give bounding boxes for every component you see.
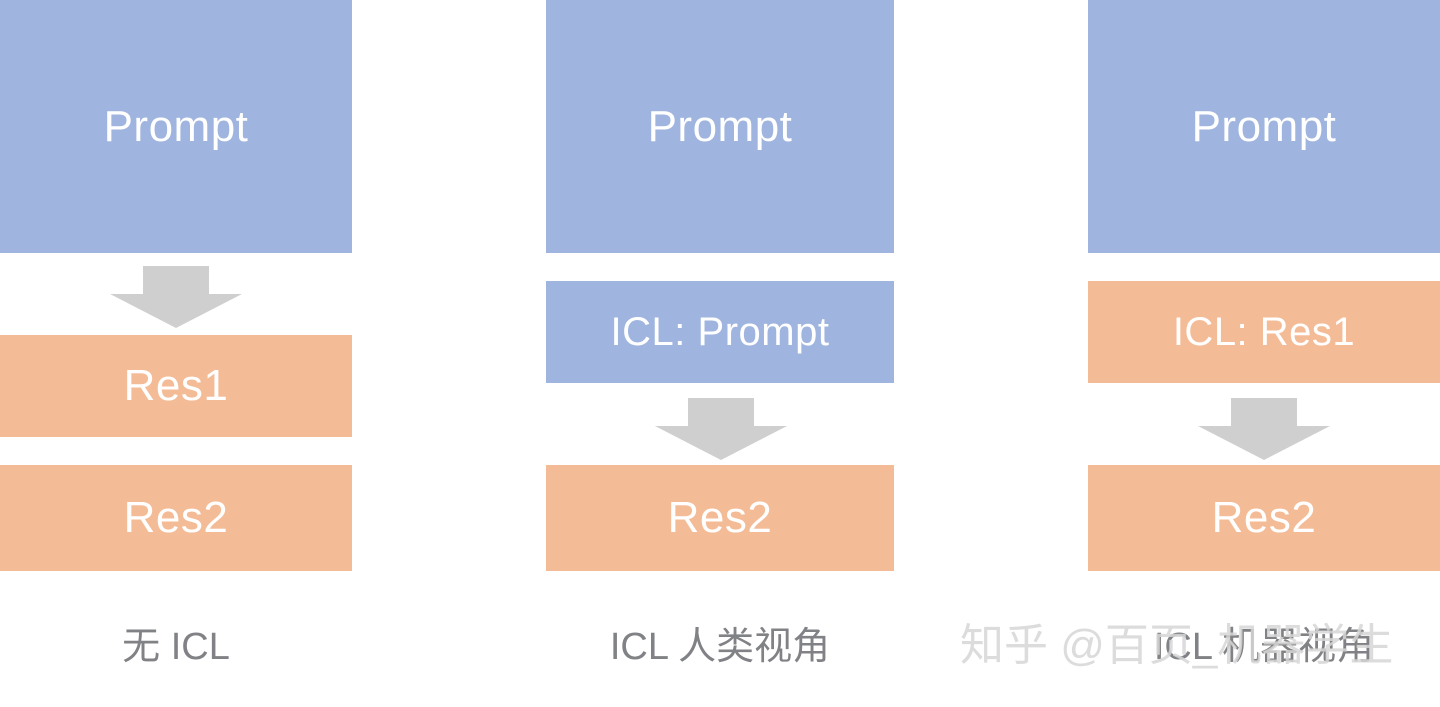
col2-caption: ICL 人类视角 (546, 628, 894, 666)
col2-prompt-label: Prompt (648, 105, 793, 149)
col1-res1-label: Res1 (124, 364, 229, 408)
col3-down-arrow-icon (1198, 398, 1330, 460)
col3-caption: ICL 机器视角 (1088, 628, 1440, 666)
col3-prompt-label: Prompt (1192, 105, 1337, 149)
col1-res2-label: Res2 (124, 496, 229, 540)
col1-res1-box: Res1 (0, 335, 352, 437)
col1-prompt-label: Prompt (104, 105, 249, 149)
col3-res2-label: Res2 (1212, 496, 1317, 540)
col3-prompt-box: Prompt (1088, 0, 1440, 253)
col1-down-arrow-icon (110, 266, 242, 328)
col2-res2-box: Res2 (546, 465, 894, 571)
col1-caption: 无 ICL (0, 628, 352, 666)
col3-icl-res1-label: ICL: Res1 (1173, 312, 1355, 352)
col3-icl-res1-box: ICL: Res1 (1088, 281, 1440, 383)
col2-down-arrow-icon (655, 398, 787, 460)
col2-prompt-box: Prompt (546, 0, 894, 253)
col1-res2-box: Res2 (0, 465, 352, 571)
diagram-canvas: Prompt Res1 Res2 无 ICL Prompt ICL: Promp… (0, 0, 1440, 707)
col2-icl-prompt-box: ICL: Prompt (546, 281, 894, 383)
col2-icl-prompt-label: ICL: Prompt (611, 312, 830, 352)
col1-prompt-box: Prompt (0, 0, 352, 253)
col2-res2-label: Res2 (668, 496, 773, 540)
col3-res2-box: Res2 (1088, 465, 1440, 571)
